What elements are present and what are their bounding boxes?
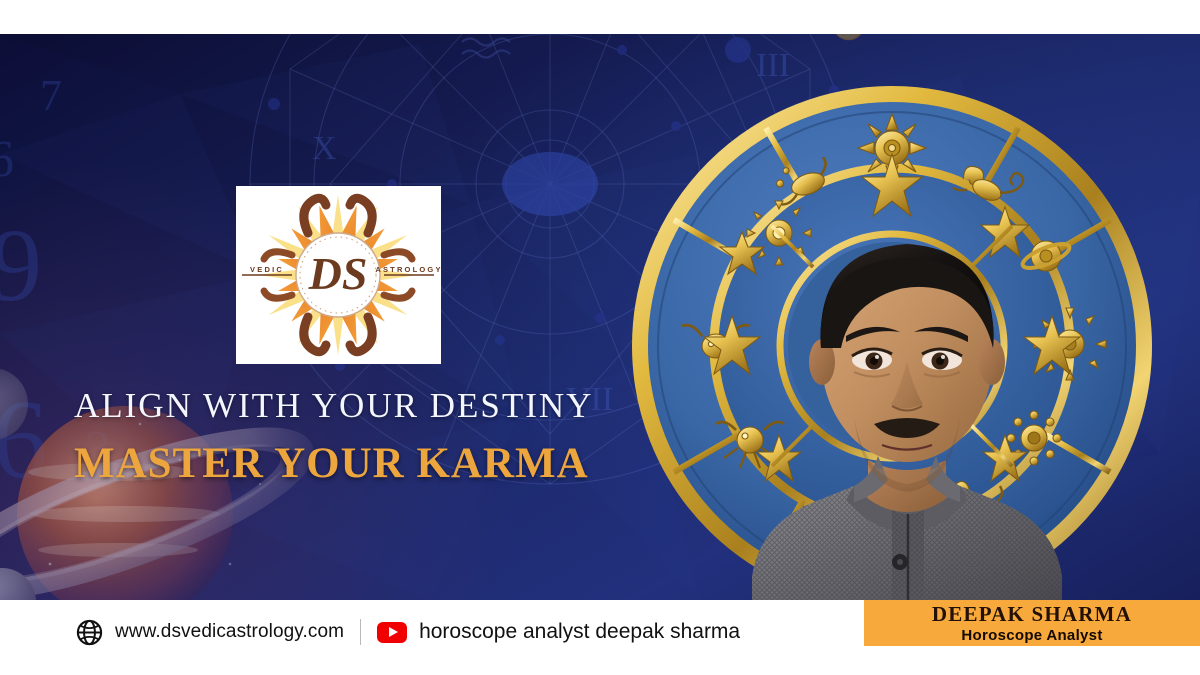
banner-background: XII XI X IX I II III IV V VI VII ♋ ♌ ♎ ♌… [0, 34, 1200, 600]
banner-canvas: XII XI X IX I II III IV V VI VII ♋ ♌ ♎ ♌… [0, 0, 1200, 675]
presenter-name: DEEPAK SHARMA [932, 604, 1132, 625]
headline-primary: ALIGN WITH YOUR DESTINY [74, 386, 674, 426]
website-url[interactable]: www.dsvedicastrology.com [115, 621, 344, 643]
footer-contact-group: www.dsvedicastrology.com horoscope analy… [76, 610, 740, 654]
vedic-astrology-sun-logo: DS VEDIC ASTROLOGY [236, 186, 441, 364]
youtube-channel-name[interactable]: horoscope analyst deepak sharma [419, 620, 740, 644]
footer-divider [360, 619, 361, 645]
globe-icon [76, 619, 103, 646]
youtube-icon[interactable] [377, 622, 407, 643]
logo-monogram: DS [308, 248, 368, 299]
headline-block: ALIGN WITH YOUR DESTINY MASTER YOUR KARM… [74, 386, 674, 488]
svg-text:XI: XI [375, 34, 411, 37]
astrologer-portrait [742, 180, 1072, 600]
svg-text:X: X [312, 130, 337, 167]
logo-right-label: ASTROLOGY [375, 265, 441, 274]
brand-logo: DS VEDIC ASTROLOGY [236, 186, 441, 364]
headline-secondary: MASTER YOUR KARMA [74, 439, 674, 488]
play-triangle-icon [389, 627, 398, 637]
svg-text:III: III [756, 47, 790, 84]
presenter-role: Horoscope Analyst [961, 628, 1102, 643]
presenter-name-badge: DEEPAK SHARMA Horoscope Analyst [864, 600, 1200, 646]
svg-text:♋: ♋ [830, 34, 867, 41]
logo-left-label: VEDIC [250, 265, 284, 274]
